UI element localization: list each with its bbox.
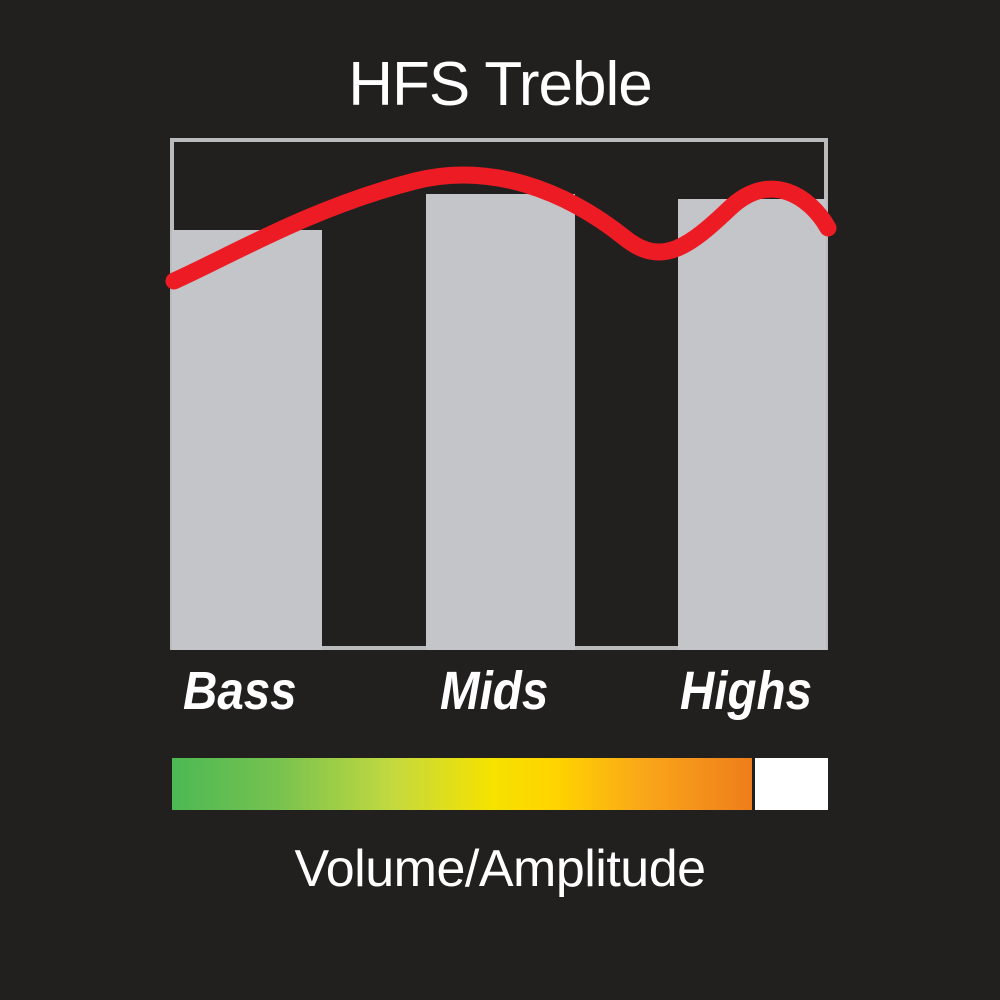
band-label-bass: Bass bbox=[183, 660, 297, 722]
legend-caption: Volume/Amplitude bbox=[0, 838, 1000, 900]
band-labels: Bass Mids Highs bbox=[170, 660, 828, 726]
page-title: HFS Treble bbox=[0, 50, 1000, 120]
band-label-mids: Mids bbox=[440, 660, 548, 722]
gradient-scale bbox=[172, 758, 752, 810]
response-curve-path bbox=[174, 175, 828, 281]
equalizer-widget: HFS Treble Bass Mids Highs Volume/Amplit… bbox=[0, 0, 1000, 1000]
eq-chart bbox=[170, 138, 828, 650]
band-label-highs: Highs bbox=[680, 660, 812, 722]
gradient-max-cap bbox=[752, 758, 828, 810]
response-curve-layer bbox=[170, 138, 828, 650]
volume-gradient-legend[interactable] bbox=[172, 758, 828, 810]
